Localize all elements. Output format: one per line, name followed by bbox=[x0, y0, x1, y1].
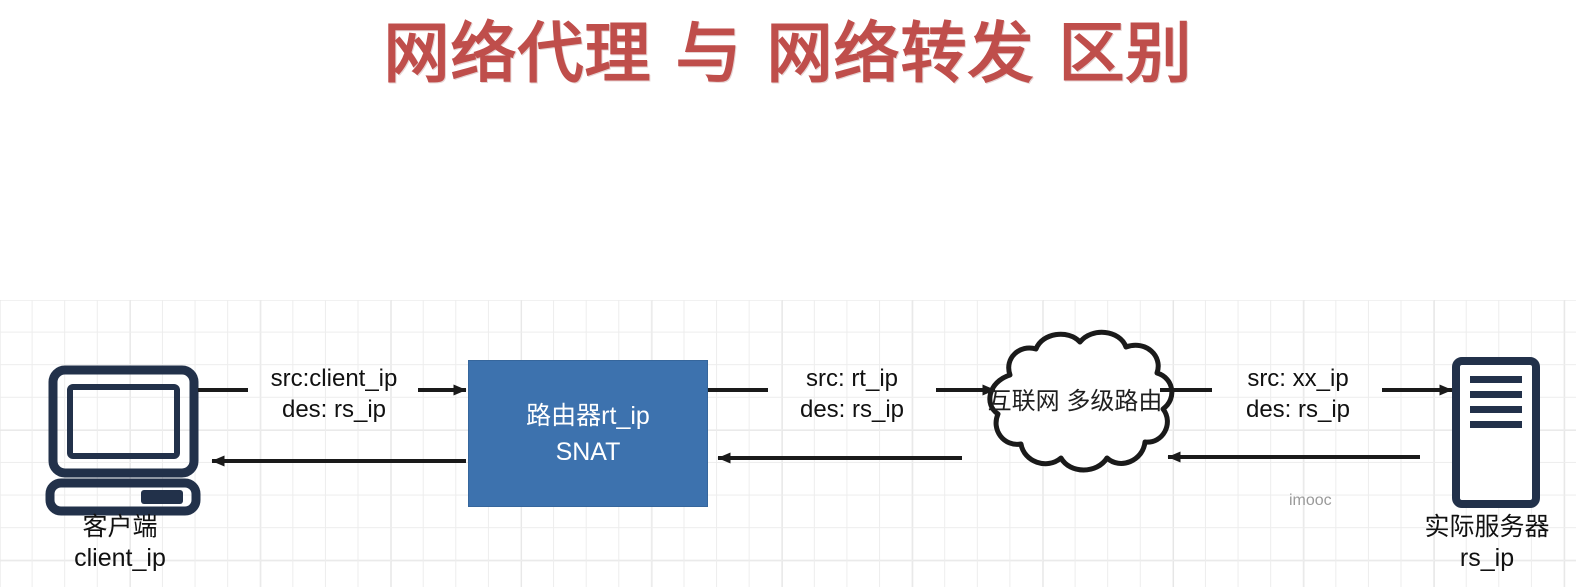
edge-label-1-line2: des: rs_ip bbox=[252, 394, 416, 425]
edge-label-3-line2: des: rs_ip bbox=[1216, 394, 1380, 425]
internet-cloud-label: 互联网 多级路由 bbox=[985, 385, 1165, 419]
desktop-computer-icon bbox=[50, 370, 196, 511]
edge-label-client-to-router: src:client_ip des: rs_ip bbox=[252, 363, 416, 425]
client-caption-line2: client_ip bbox=[20, 543, 220, 574]
client-node-caption: 客户端 client_ip bbox=[20, 512, 220, 574]
server-rack-icon bbox=[1456, 361, 1536, 504]
server-caption-line2: rs_ip bbox=[1398, 543, 1576, 574]
edge-label-2-line2: des: rs_ip bbox=[770, 394, 934, 425]
client-caption-line1: 客户端 bbox=[20, 512, 220, 543]
router-label-line2: SNAT bbox=[556, 434, 621, 470]
router-label-line1: 路由器rt_ip bbox=[526, 398, 650, 434]
edge-label-3-line1: src: xx_ip bbox=[1216, 363, 1380, 394]
diagram-vector-layer bbox=[0, 0, 1576, 587]
edge-label-internet-to-server: src: xx_ip des: rs_ip bbox=[1216, 363, 1380, 425]
edge-label-2-line1: src: rt_ip bbox=[770, 363, 934, 394]
edge-label-router-to-internet: src: rt_ip des: rs_ip bbox=[770, 363, 934, 425]
internet-label-line2: 多级路由 bbox=[1066, 388, 1162, 415]
server-node-caption: 实际服务器 rs_ip bbox=[1398, 512, 1576, 574]
router-node[interactable]: 路由器rt_ip SNAT bbox=[468, 360, 708, 507]
watermark: imooc bbox=[1289, 491, 1332, 511]
edge-label-1-line1: src:client_ip bbox=[252, 363, 416, 394]
internet-label-line1: 互联网 bbox=[988, 388, 1060, 415]
network-diagram: 路由器rt_ip SNAT 互联网 多级路由 src:client_ip des… bbox=[0, 0, 1576, 587]
server-caption-line1: 实际服务器 bbox=[1398, 512, 1576, 543]
